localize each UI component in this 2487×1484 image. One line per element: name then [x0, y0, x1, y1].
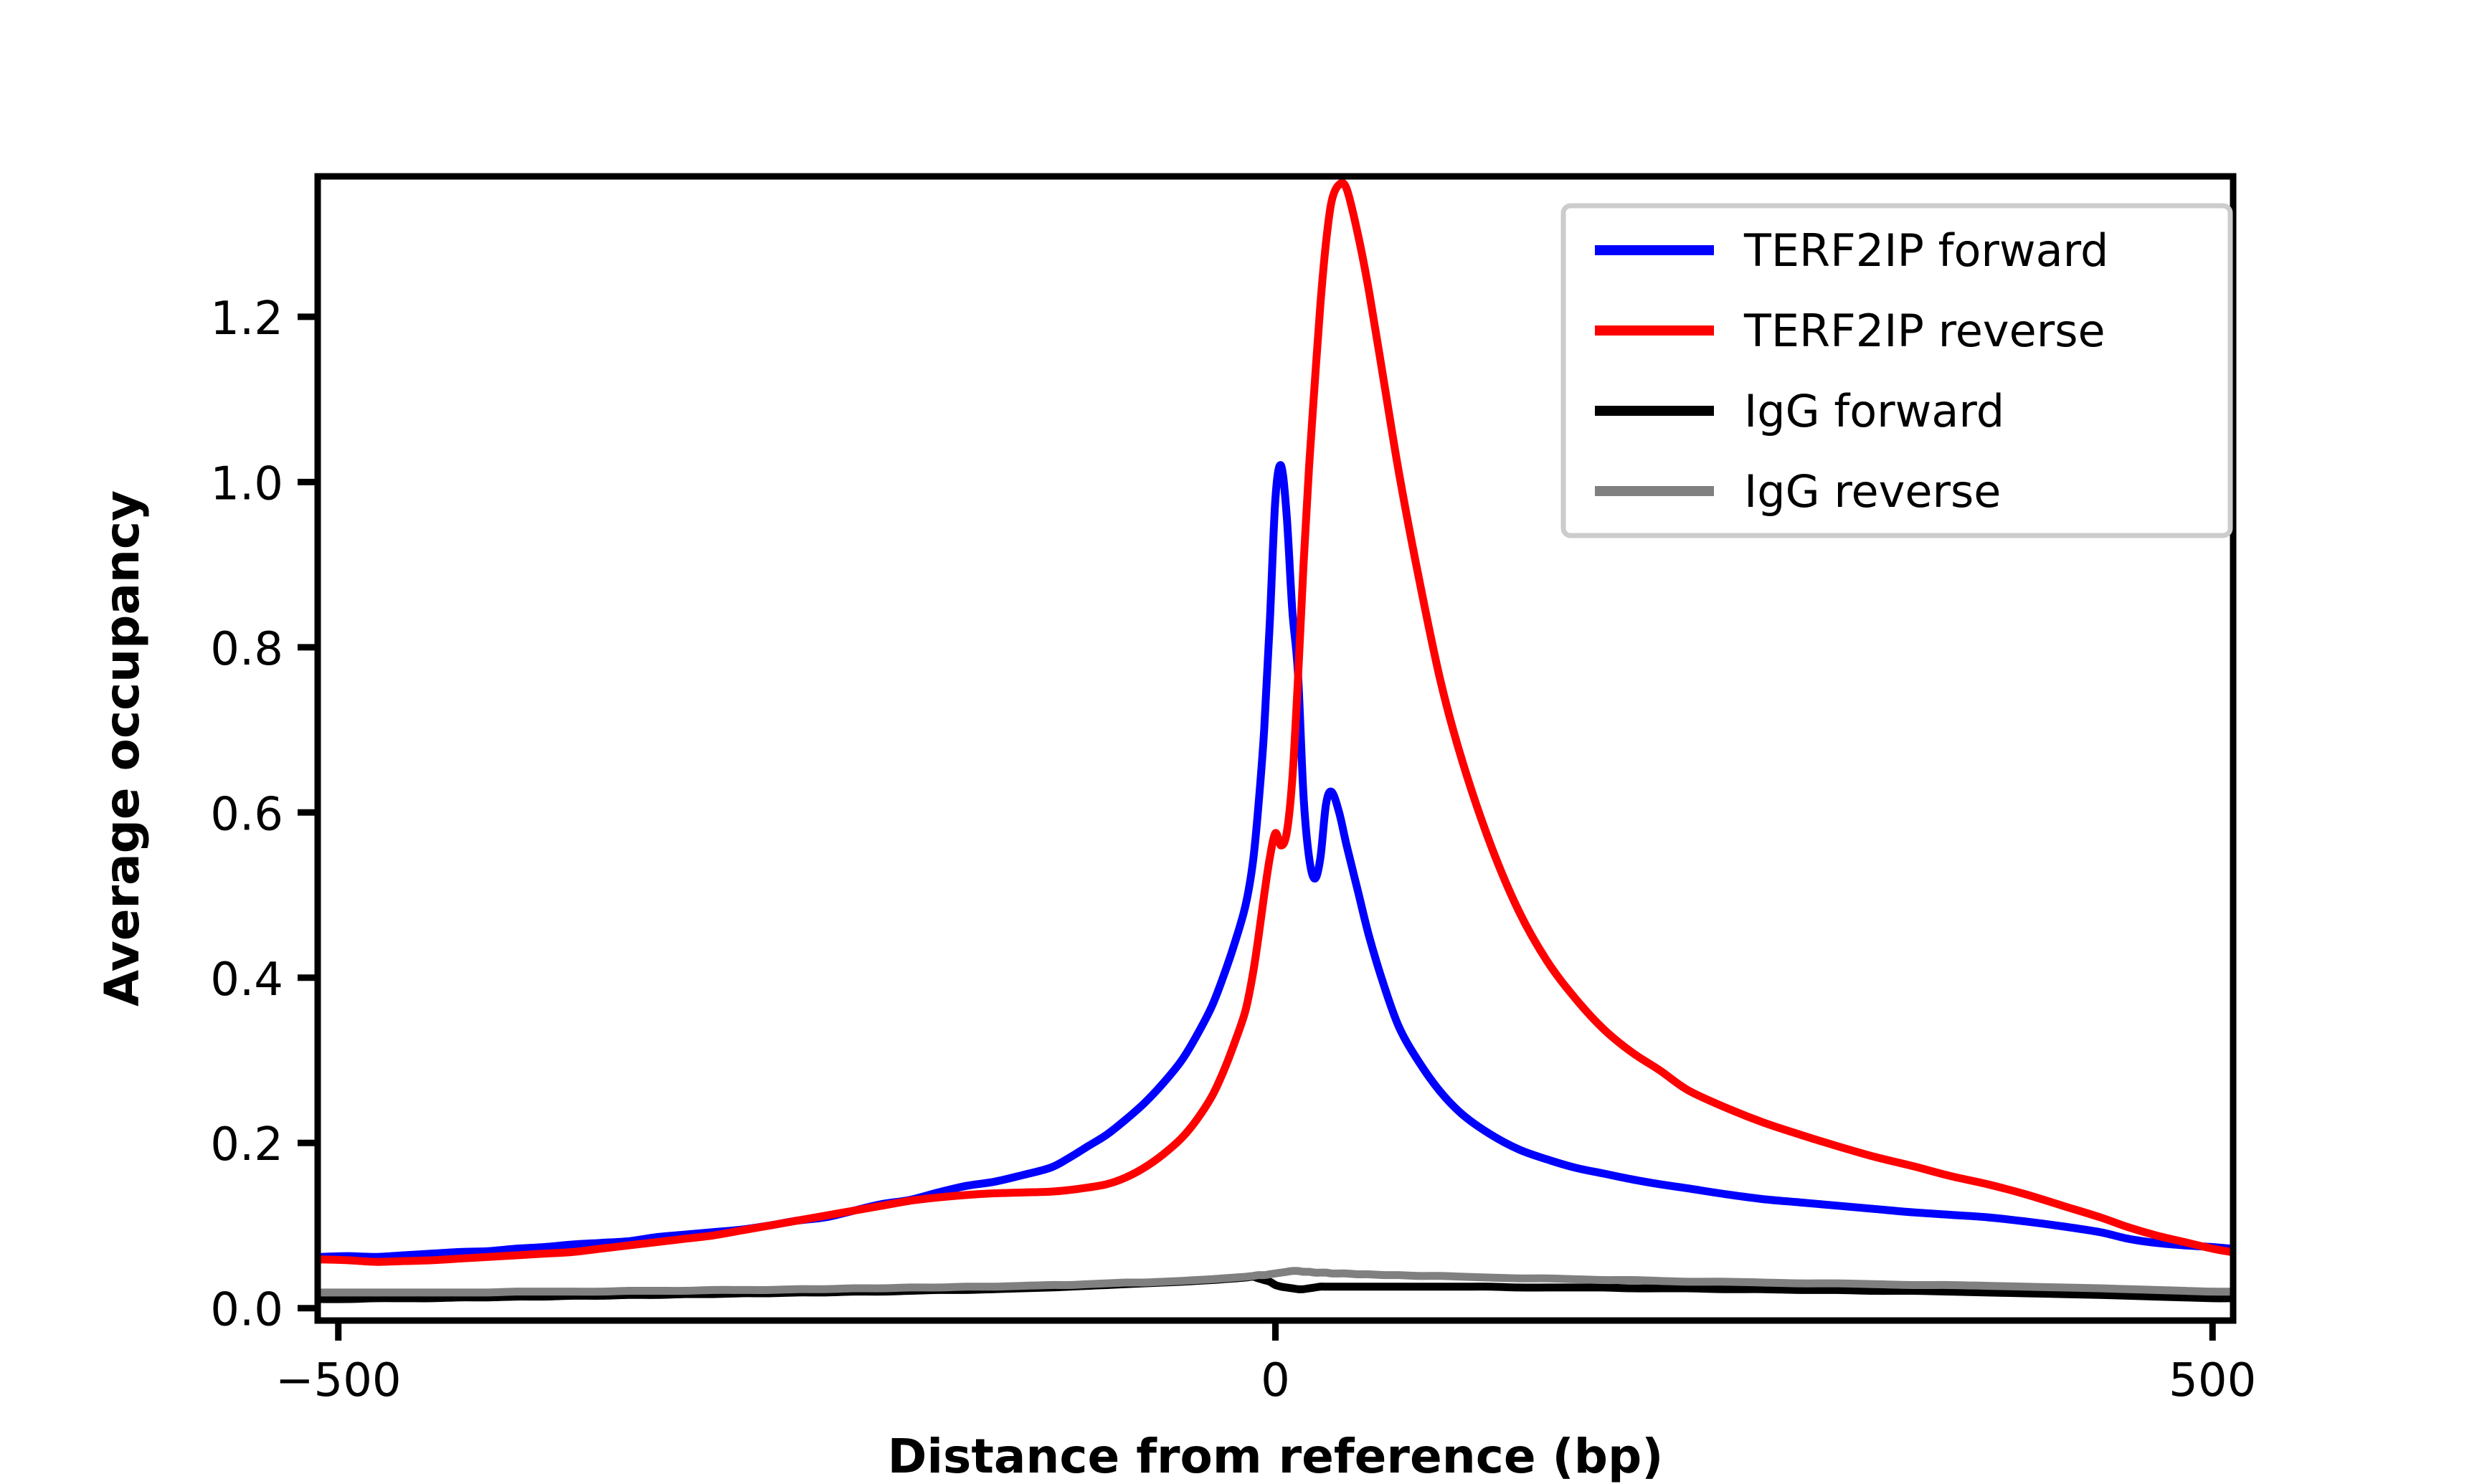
x-axis-title: Distance from reference (bp): [888, 1429, 1664, 1484]
x-tick-label: −500: [275, 1354, 402, 1407]
x-tick-label: 500: [2169, 1354, 2256, 1407]
y-tick-label: 0.8: [210, 623, 283, 676]
x-tick-label: 0: [1261, 1354, 1290, 1407]
y-tick-label: 0.0: [210, 1284, 283, 1337]
legend-item-label: IgG reverse: [1744, 465, 2001, 518]
legend-item-label: IgG forward: [1744, 385, 2004, 437]
legend-item-label: TERF2IP forward: [1743, 224, 2108, 277]
y-tick-label: 1.2: [210, 292, 283, 346]
y-tick-label: 0.4: [210, 953, 283, 1007]
figure-canvas: 0.00.20.40.60.81.01.2−5000500 Distance f…: [0, 0, 2487, 1484]
y-tick-label: 0.2: [210, 1118, 283, 1171]
y-tick-label: 0.6: [210, 788, 283, 841]
y-tick-label: 1.0: [210, 457, 283, 510]
chart-legend: TERF2IP forwardTERF2IP reverseIgG forwar…: [1563, 206, 2230, 536]
line-chart: 0.00.20.40.60.81.01.2−5000500 Distance f…: [0, 0, 2487, 1484]
y-axis-title: Average occupancy: [95, 490, 150, 1007]
legend-item-label: TERF2IP reverse: [1743, 305, 2105, 357]
